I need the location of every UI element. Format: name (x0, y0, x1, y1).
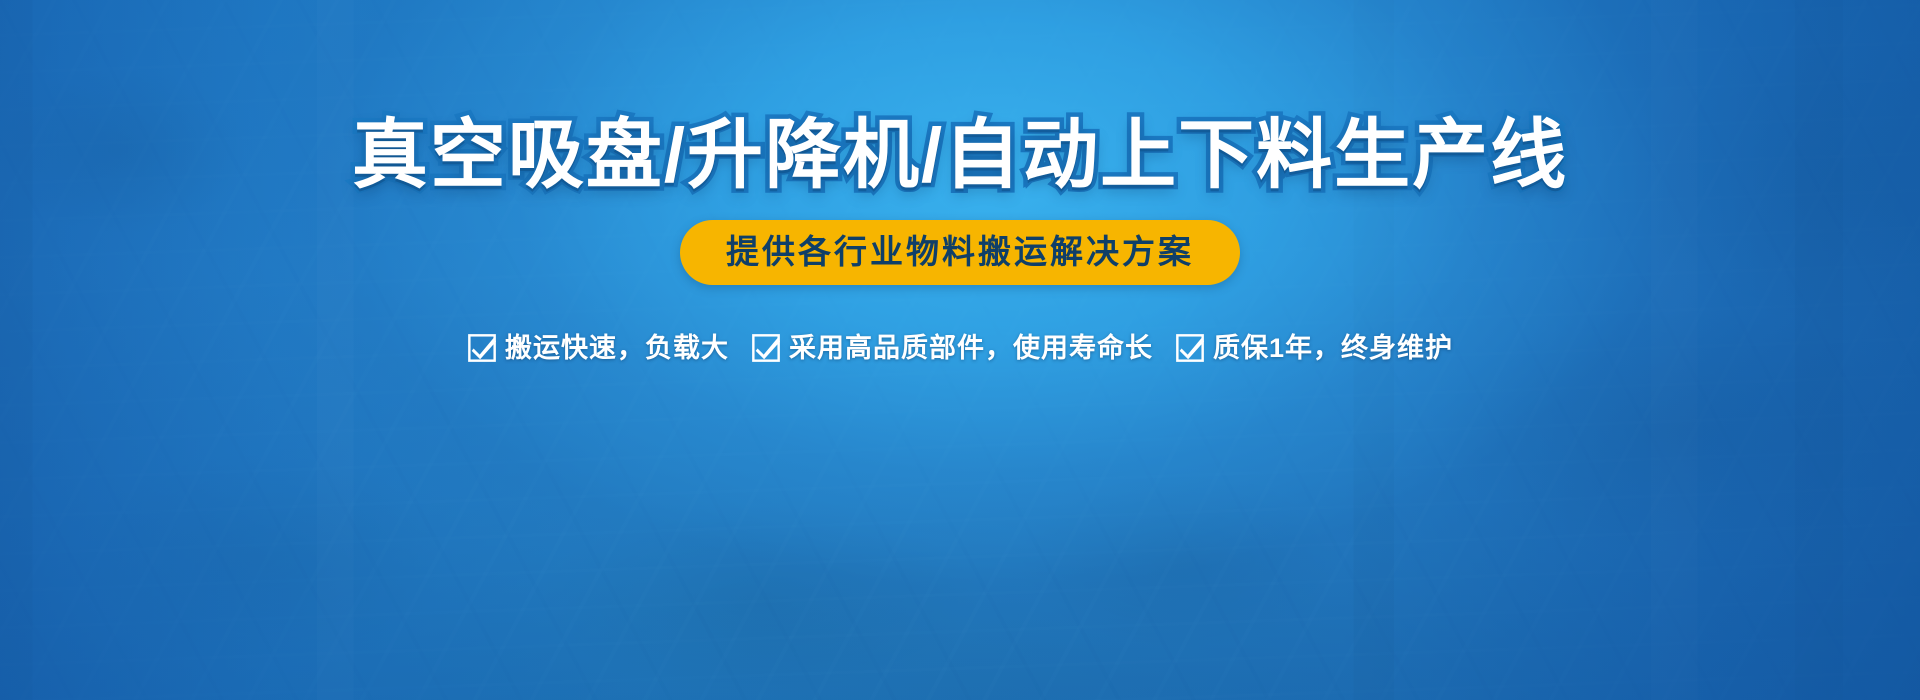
checkbox-checked-icon (467, 333, 497, 363)
feature-label: 质保1年，终身维护 (1213, 335, 1453, 362)
feature-label: 采用高品质部件，使用寿命长 (789, 335, 1153, 362)
feature-item: 质保1年，终身维护 (1175, 333, 1453, 363)
checkbox-checked-icon (751, 333, 781, 363)
feature-list: 搬运快速，负载大 采用高品质部件，使用寿命长 质保1年，终身维护 (467, 333, 1453, 363)
banner-headline: 真空吸盘/升降机/自动上下料生产线 (352, 118, 1568, 194)
banner-content: 真空吸盘/升降机/自动上下料生产线 提供各行业物料搬运解决方案 搬运快速，负载大… (0, 0, 1920, 700)
feature-item: 搬运快速，负载大 (467, 333, 729, 363)
banner-subtitle-pill: 提供各行业物料搬运解决方案 (680, 220, 1240, 285)
feature-item: 采用高品质部件，使用寿命长 (751, 333, 1153, 363)
feature-label: 搬运快速，负载大 (505, 335, 729, 362)
hero-banner: 真空吸盘/升降机/自动上下料生产线 提供各行业物料搬运解决方案 搬运快速，负载大… (0, 0, 1920, 700)
checkbox-checked-icon (1175, 333, 1205, 363)
